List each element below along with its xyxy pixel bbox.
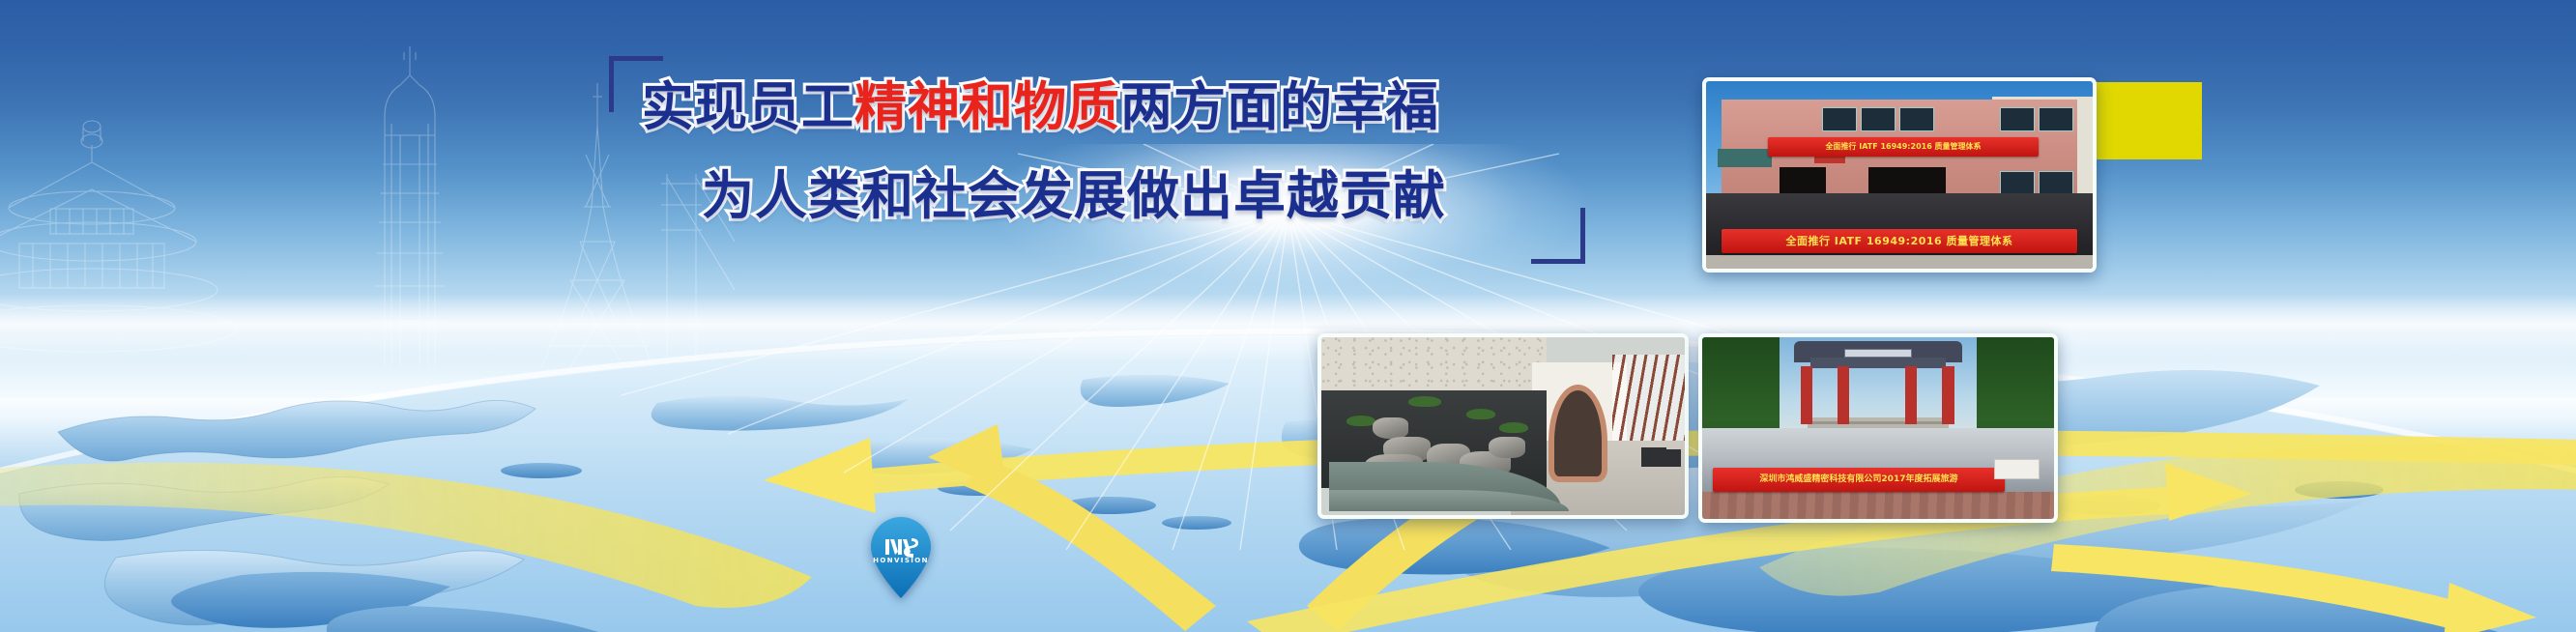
slogan-line1-part1: 实现员工	[642, 76, 854, 137]
photo3-white-sign	[1994, 459, 2040, 479]
photo3-held-banner: 深圳市鸿威盛精密科技有限公司2017年度拓展旅游	[1713, 468, 2005, 491]
corporate-culture-banner: 实现员工精神和物质两方面的幸福 为人类和社会发展做出卓越贡献 HONVISION	[0, 0, 2576, 632]
slogan-line-2: 为人类和社会发展做出卓越贡献	[702, 170, 1446, 222]
location-pin-logo[interactable]: HONVISION	[871, 517, 931, 598]
globe-world-map	[0, 316, 2576, 632]
slogan-block: 实现员工精神和物质两方面的幸福 为人类和社会发展做出卓越贡献	[609, 56, 1585, 264]
photo-iatf-group[interactable]: 全面推行 IATF 16949:2016 质量管理体系 全面推行 IATF 16…	[1702, 77, 2097, 273]
photo-outing[interactable]: 深圳市鸿威盛精密科技有限公司2017年度拓展旅游	[1698, 333, 2058, 523]
photo1-wall-banner: 全面推行 IATF 16949:2016 质量管理体系	[1768, 137, 2039, 156]
slogan-line-1: 实现员工精神和物质两方面的幸福	[642, 81, 1439, 133]
photo1-held-banner: 全面推行 IATF 16949:2016 质量管理体系	[1722, 229, 2077, 253]
logo-wordmark: HONVISION	[871, 557, 931, 564]
photo-courtyard[interactable]	[1317, 333, 1689, 519]
slogan-line1-part2: 两方面的幸福	[1120, 76, 1439, 137]
slogan-line1-highlight: 精神和物质	[854, 76, 1120, 137]
corner-bracket-bottom-right-icon	[1531, 208, 1585, 264]
